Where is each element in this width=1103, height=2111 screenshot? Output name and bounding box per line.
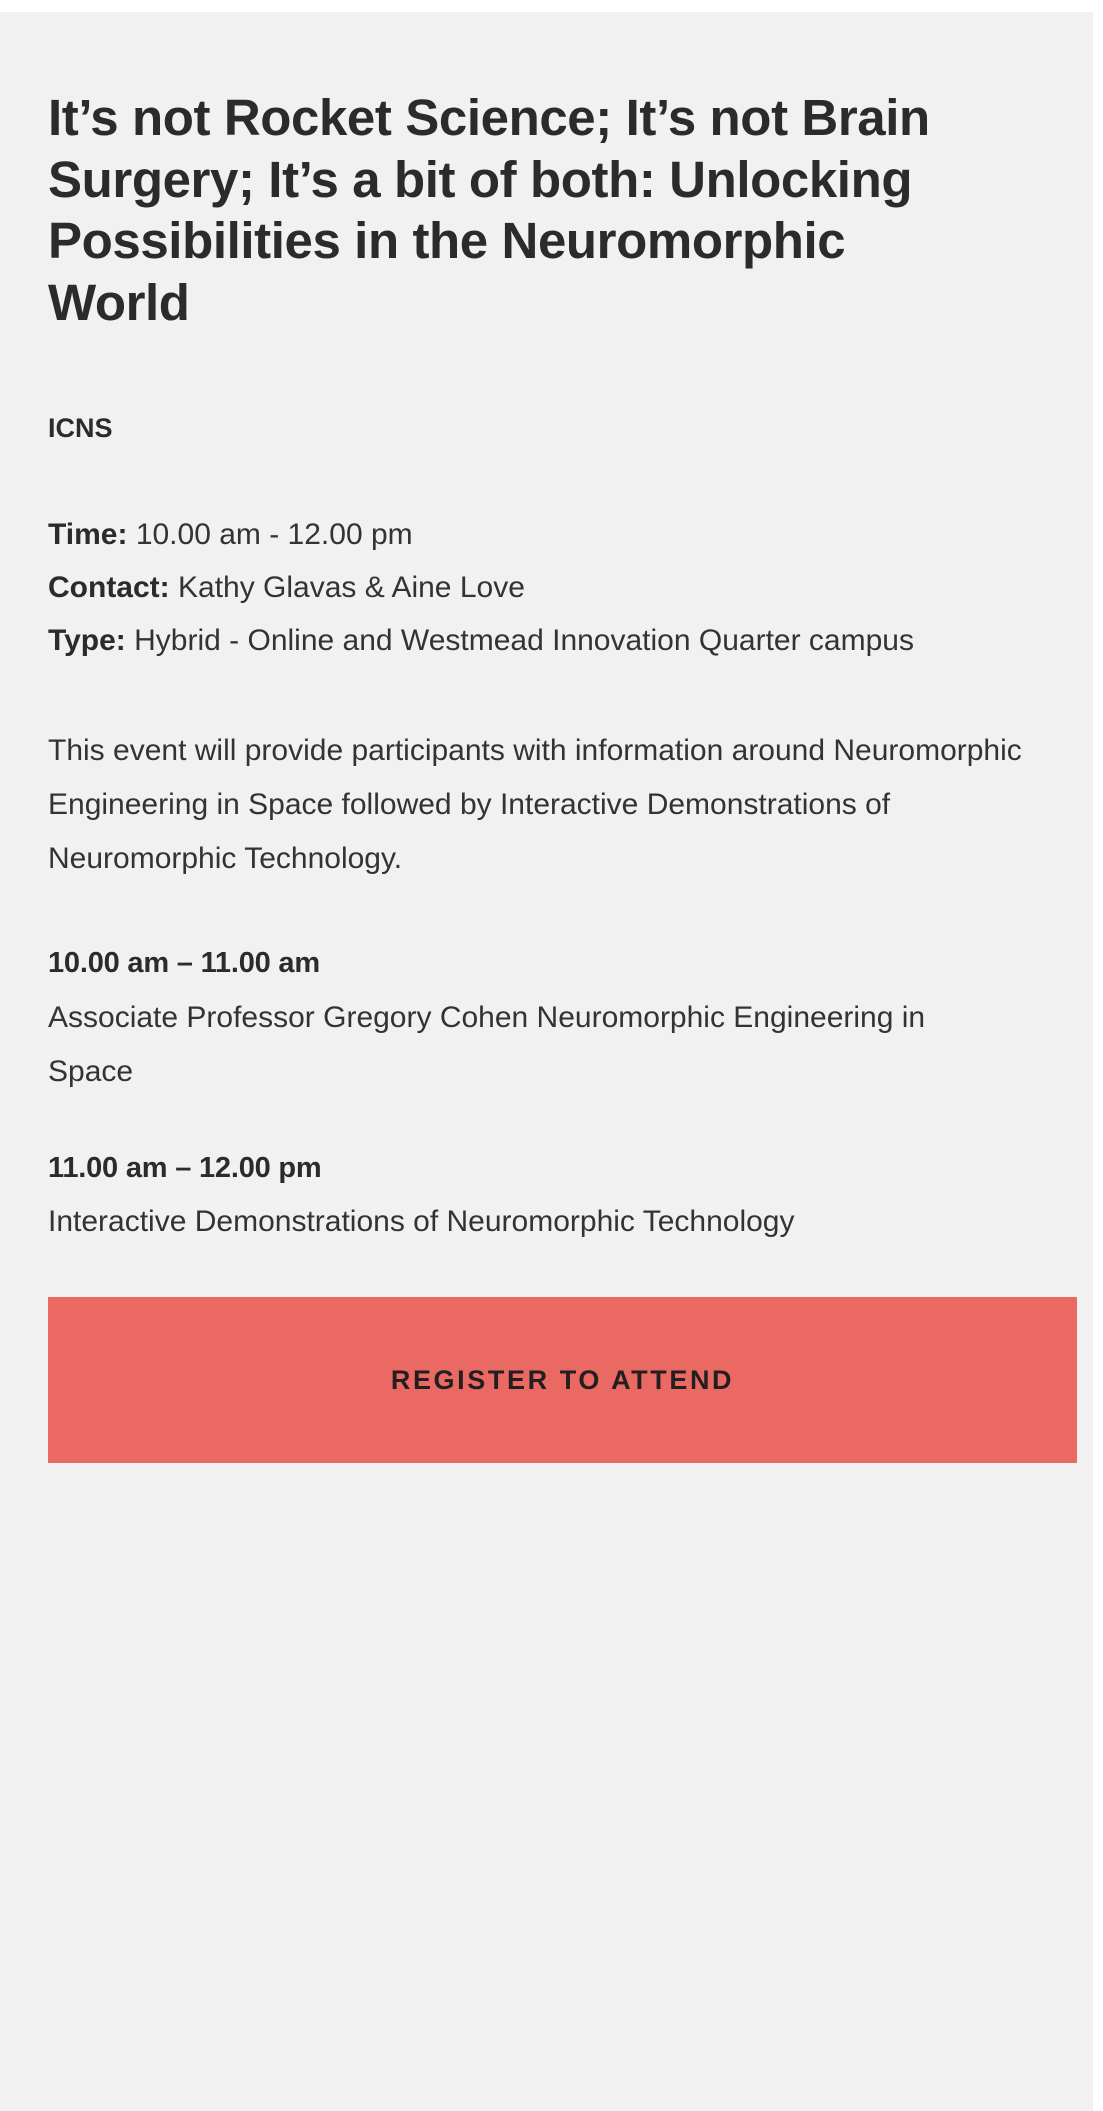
event-meta-contact-label: Contact: [48,571,170,604]
event-schedule: 10.00 am – 11.00 am Associate Professor … [48,886,1077,1249]
event-meta-time-value: 10.00 am - 12.00 pm [136,518,413,551]
event-meta-block: Time: 10.00 am - 12.00 pm Contact: Kathy… [48,446,1028,667]
event-meta-contact-value: Kathy Glavas & Aine Love [178,571,525,604]
schedule-item-time: 11.00 am – 12.00 pm [48,1147,1077,1191]
register-to-attend-button[interactable]: REGISTER TO ATTEND [48,1297,1077,1463]
event-organiser: ICNS [48,334,1077,446]
schedule-item-detail: Interactive Demonstrations of Neuromorph… [48,1190,1008,1249]
event-meta-type-label: Type: [48,624,126,657]
schedule-item: 10.00 am – 11.00 am Associate Professor … [48,942,1077,1099]
event-meta-time-label: Time: [48,518,127,551]
event-meta-type-value: Hybrid - Online and Westmead Innovation … [134,624,914,657]
event-page: It’s not Rocket Science; It’s not Brain … [0,12,1093,2111]
event-description: This event will provide participants wit… [48,667,1038,886]
event-meta-time: Time: 10.00 am - 12.00 pm [48,508,1028,561]
schedule-item-detail: Associate Professor Gregory Cohen Neurom… [48,986,1008,1099]
schedule-item-time: 10.00 am – 11.00 am [48,942,1077,986]
schedule-item: 11.00 am – 12.00 pm Interactive Demonstr… [48,1147,1077,1250]
cta-container: REGISTER TO ATTEND [48,1249,1077,1463]
page-title: It’s not Rocket Science; It’s not Brain … [48,12,988,334]
event-content: It’s not Rocket Science; It’s not Brain … [48,12,1077,1463]
event-meta-contact: Contact: Kathy Glavas & Aine Love [48,561,1028,614]
event-meta-type: Type: Hybrid - Online and Westmead Innov… [48,614,1028,667]
